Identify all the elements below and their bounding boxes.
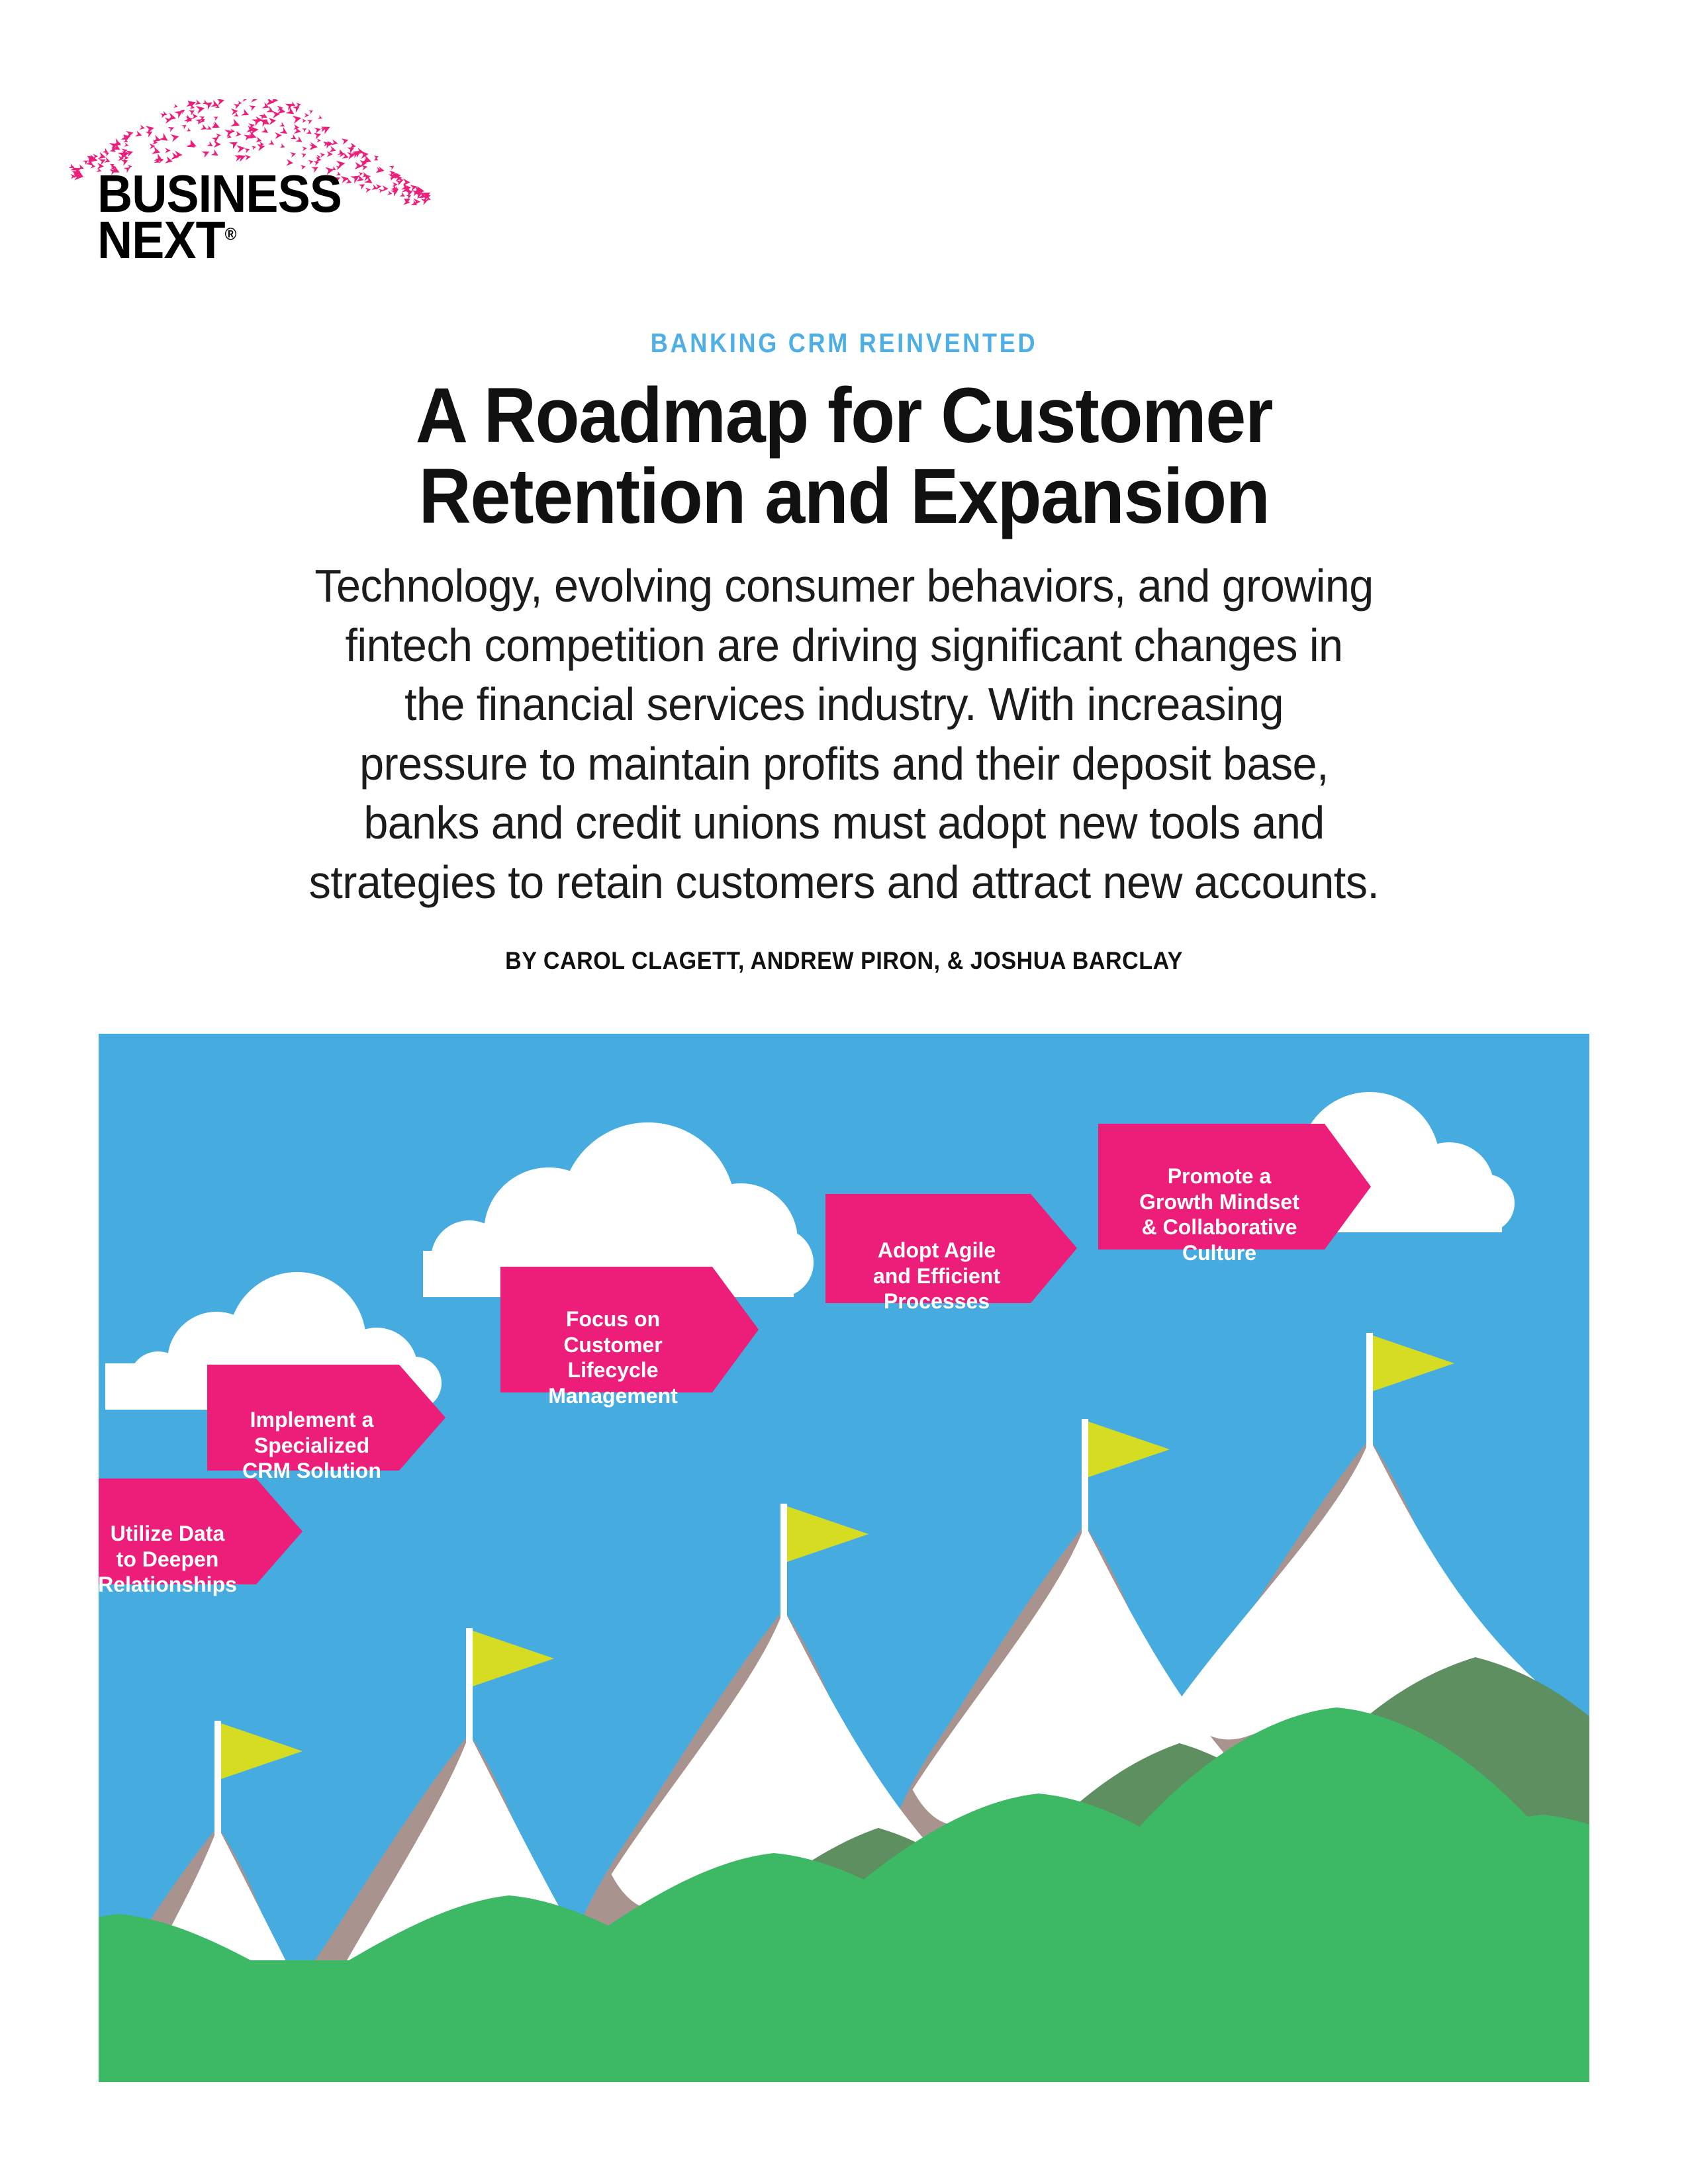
bird-glyph [293, 114, 303, 124]
banner-label-1: Utilize Data to Deepen Relationships [99, 1504, 303, 1597]
bird-glyph [342, 137, 350, 145]
bird-glyph [174, 108, 185, 118]
bird-glyph [242, 99, 250, 102]
banner-label-4: Adopt Agile and Efficient Processes [825, 1219, 1077, 1314]
flag-pole [1366, 1333, 1373, 1447]
mountain-roadmap-illustration: Utilize Data to Deepen Relationships Imp… [99, 1034, 1589, 2082]
bird-glyph [196, 104, 206, 114]
bird-glyph [308, 109, 314, 114]
bird-glyph [214, 140, 221, 148]
bird-glyph [165, 148, 171, 154]
ground-fill [99, 1960, 1589, 2082]
bird-glyph [393, 182, 398, 187]
bird-glyph [302, 118, 306, 122]
bird-glyph [213, 114, 219, 120]
bird-glyph [365, 187, 371, 193]
bird-glyph [173, 104, 179, 109]
bird-glyph [195, 99, 201, 106]
bird-glyph [302, 146, 307, 151]
bird-glyph [382, 185, 389, 192]
bird-glyph [206, 125, 212, 132]
bird-glyph [211, 150, 220, 159]
bird-glyph [188, 108, 196, 116]
bird-glyph [327, 151, 333, 157]
banner-growth-mindset[interactable]: Promote a Growth Mindset & Collaborative… [1098, 1124, 1371, 1278]
flag-pole [466, 1628, 473, 1742]
banner-utilize-data[interactable]: Utilize Data to Deepen Relationships [99, 1479, 303, 1610]
bird-glyph [235, 131, 242, 138]
bird-glyph [307, 118, 313, 124]
article-deck: Technology, evolving consumer behaviors,… [199, 557, 1489, 913]
bird-glyph [226, 134, 232, 140]
bird-glyph [241, 109, 250, 118]
bird-glyph [329, 146, 337, 154]
bird-glyph [186, 128, 191, 133]
bird-glyph [364, 176, 374, 186]
bird-glyph [279, 122, 286, 128]
bird-glyph [249, 103, 257, 111]
bird-glyph [256, 137, 263, 144]
bird-glyph [207, 141, 214, 148]
flag-pole [1082, 1419, 1088, 1533]
bird-glyph [104, 158, 111, 165]
bird-glyph [244, 147, 251, 154]
bird-glyph [184, 114, 194, 124]
bird-glyph [261, 127, 269, 136]
bird-glyph [305, 113, 309, 118]
banner-implement-crm[interactable]: Implement a Specialized CRM Solution [207, 1365, 445, 1496]
bird-glyph [290, 151, 297, 158]
logo-wordmark: BUSINESS NEXT® [97, 171, 342, 264]
bird-glyph [403, 179, 410, 186]
flag-pole [214, 1721, 221, 1835]
bird-glyph [387, 191, 393, 196]
banner-adopt-agile[interactable]: Adopt Agile and Efficient Processes [825, 1194, 1077, 1327]
bird-glyph [318, 115, 323, 120]
bird-glyph [272, 111, 280, 118]
bird-glyph [159, 133, 170, 144]
bird-glyph [358, 171, 363, 177]
banner-label-3: Focus on Customer Lifecycle Management [500, 1292, 759, 1408]
bird-glyph [306, 129, 313, 136]
bird-glyph [229, 139, 240, 150]
bird-glyph [295, 136, 304, 145]
article-header: BANKING CRM REINVENTED A Roadmap for Cus… [0, 328, 1688, 975]
bird-glyph [269, 117, 277, 125]
bird-glyph [140, 124, 146, 130]
bird-glyph [135, 130, 143, 138]
bird-glyph [245, 154, 252, 161]
bird-glyph [317, 138, 321, 142]
page-title: A Roadmap for Customer Retention and Exp… [198, 376, 1491, 537]
bird-glyph [332, 140, 338, 146]
bird-glyph [252, 145, 257, 150]
bird-glyph [187, 140, 198, 150]
brand-logo: BUSINESS NEXT® [63, 99, 434, 285]
bird-glyph [201, 124, 209, 132]
bird-glyph [389, 164, 395, 170]
bird-glyph [181, 123, 188, 130]
bird-glyph [268, 140, 276, 148]
bird-glyph [192, 113, 198, 119]
bird-glyph [216, 133, 221, 138]
eyebrow-kicker: BANKING CRM REINVENTED [101, 328, 1587, 359]
bird-glyph [285, 107, 296, 117]
bird-glyph [314, 131, 322, 140]
bird-glyph [216, 99, 226, 105]
banner-label-2: Implement a Specialized CRM Solution [207, 1390, 445, 1483]
byline: BY CAROL CLAGETT, ANDREW PIRON, & JOSHUA… [68, 947, 1620, 975]
bird-glyph [201, 148, 211, 158]
bird-glyph [231, 107, 238, 114]
bird-glyph [154, 154, 165, 165]
bird-glyph [124, 143, 128, 148]
bird-glyph [236, 144, 245, 153]
bird-glyph [302, 126, 308, 132]
bird-glyph [152, 146, 162, 156]
bird-glyph [230, 118, 241, 129]
bird-glyph [103, 148, 110, 155]
bird-glyph [168, 125, 175, 132]
bird-glyph [301, 152, 307, 158]
logo-text: BUSINESS NEXT [97, 164, 342, 269]
banner-customer-lifecycle[interactable]: Focus on Customer Lifecycle Management [500, 1267, 759, 1421]
flag-pole [780, 1504, 787, 1617]
bird-glyph [314, 126, 322, 133]
bird-glyph [291, 134, 298, 142]
bird-glyph [399, 192, 406, 199]
bird-glyph [251, 99, 258, 103]
banner-label-5: Promote a Growth Mindset & Collaborative… [1098, 1149, 1371, 1265]
bird-glyph [279, 144, 285, 150]
bird-glyph [358, 182, 366, 190]
bird-glyph [171, 132, 180, 142]
trademark-symbol: ® [225, 224, 236, 244]
